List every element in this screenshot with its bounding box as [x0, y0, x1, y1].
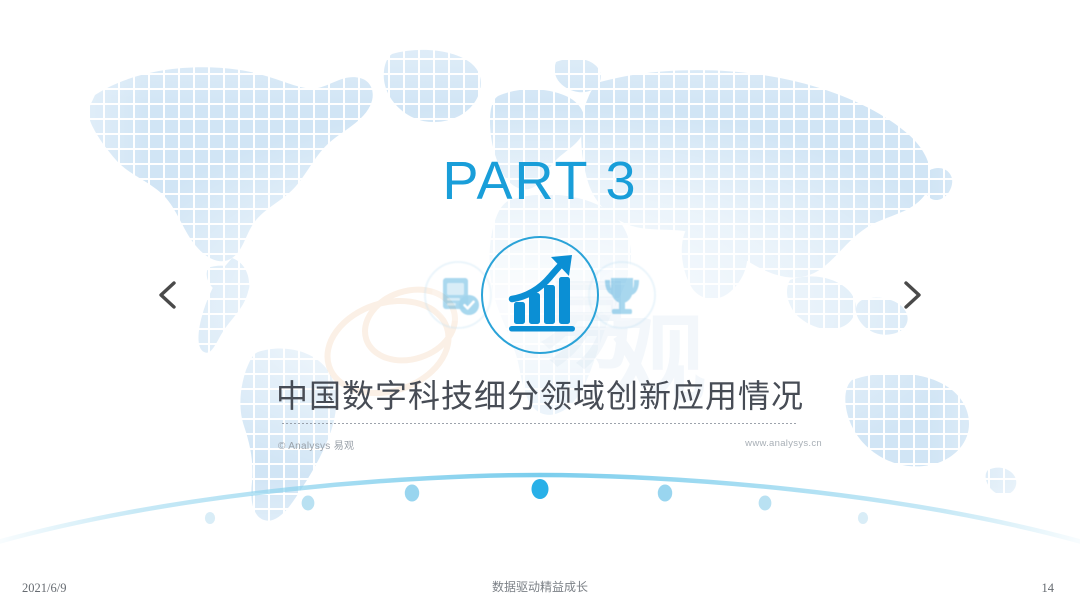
progress-arc-svg	[0, 455, 1080, 555]
bar-chart-growth-icon	[481, 236, 599, 354]
footer-tagline: 数据驱动精益成长	[0, 578, 1080, 595]
slide-canvas: 易 观 PART 3	[0, 0, 1080, 608]
progress-dot[interactable]	[302, 496, 315, 511]
progress-dot[interactable]	[759, 496, 772, 511]
progress-dot[interactable]	[405, 485, 419, 502]
progress-dot-active[interactable]	[532, 479, 549, 499]
progress-dot-group	[205, 479, 868, 524]
title-divider	[282, 423, 798, 424]
part-heading: PART 3	[0, 150, 1080, 212]
copyright-text: © Analysys 易观	[278, 437, 354, 452]
progress-arc	[0, 455, 1080, 555]
section-title: 中国数字科技细分领域创新应用情况	[0, 371, 1080, 417]
website-url[interactable]: www.analysys.cn	[745, 438, 822, 449]
progress-dot[interactable]	[658, 485, 672, 502]
next-slide-chevron-icon[interactable]	[888, 272, 934, 318]
footer-page-number: 14	[1042, 581, 1055, 596]
progress-dot[interactable]	[858, 512, 868, 524]
prev-slide-chevron-icon[interactable]	[146, 272, 192, 318]
progress-dot[interactable]	[205, 512, 215, 524]
